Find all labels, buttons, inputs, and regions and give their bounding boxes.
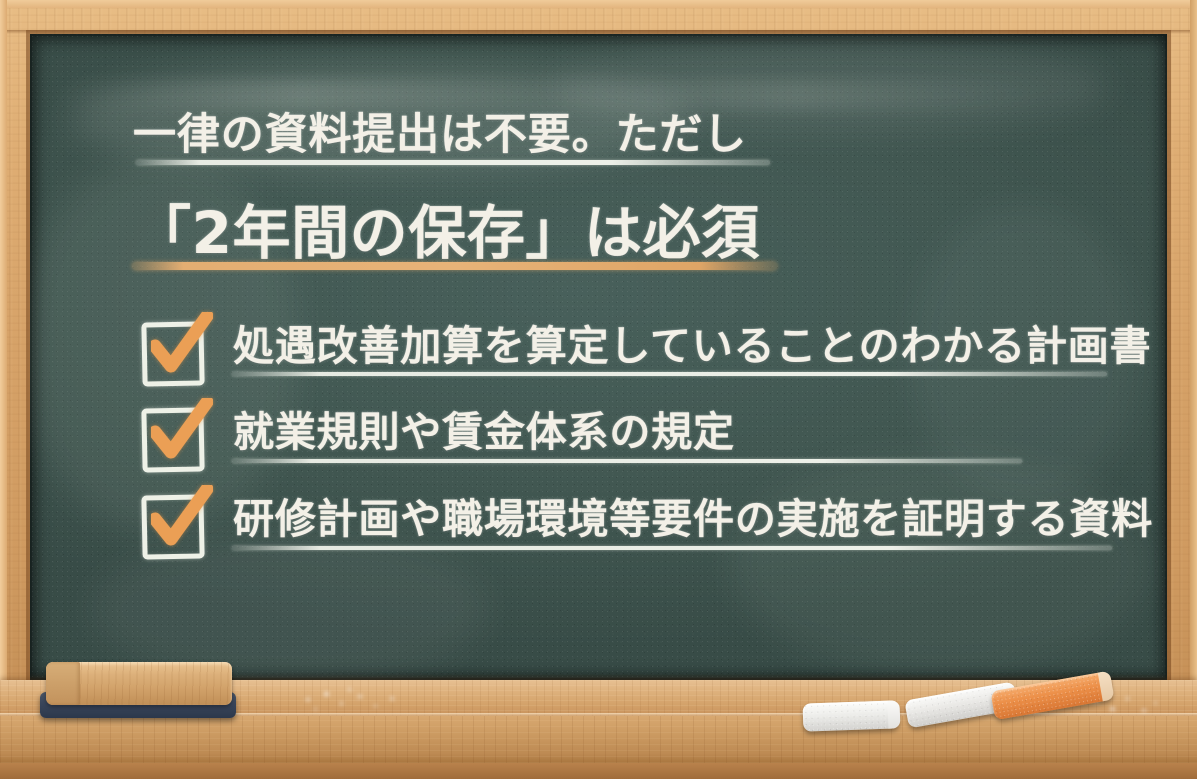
check-icon [151,398,213,464]
frame-left-highlight [0,0,7,779]
chalk-dust [300,688,410,716]
lead-text: 一律の資料提出は不要。ただし [133,100,747,162]
checklist-item-underline [232,459,1022,463]
eraser-wood-end [46,662,80,705]
checklist-item-label: 就業規則や賃金体系の規定 [233,400,735,464]
blackboard-eraser[interactable] [40,662,240,718]
checklist-item-underline [232,372,1107,376]
headline-text: 「2年間の保存」は必須 [133,186,760,270]
chalk-ledge-face [0,716,1197,763]
check-icon [151,312,213,378]
white-chalk-1[interactable] [803,700,900,731]
checklist-item-label: 研修計画や職場環境等要件の実施を証明する資料 [233,487,1153,551]
checklist-item-underline [232,546,1112,550]
chalkboard-scene: 一律の資料提出は不要。ただし 「2年間の保存」は必須 処遇改善加算を算定している… [0,0,1197,779]
lead-underline [136,160,770,165]
checklist-item-label: 処遇改善加算を算定していることのわかる計画書 [233,314,1151,378]
check-icon [151,485,213,551]
frame-right-highlight [1190,0,1197,779]
frame-top-highlight [0,0,1197,8]
chalk-ledge-bottom [0,763,1197,779]
headline-underline-orange [132,262,777,270]
